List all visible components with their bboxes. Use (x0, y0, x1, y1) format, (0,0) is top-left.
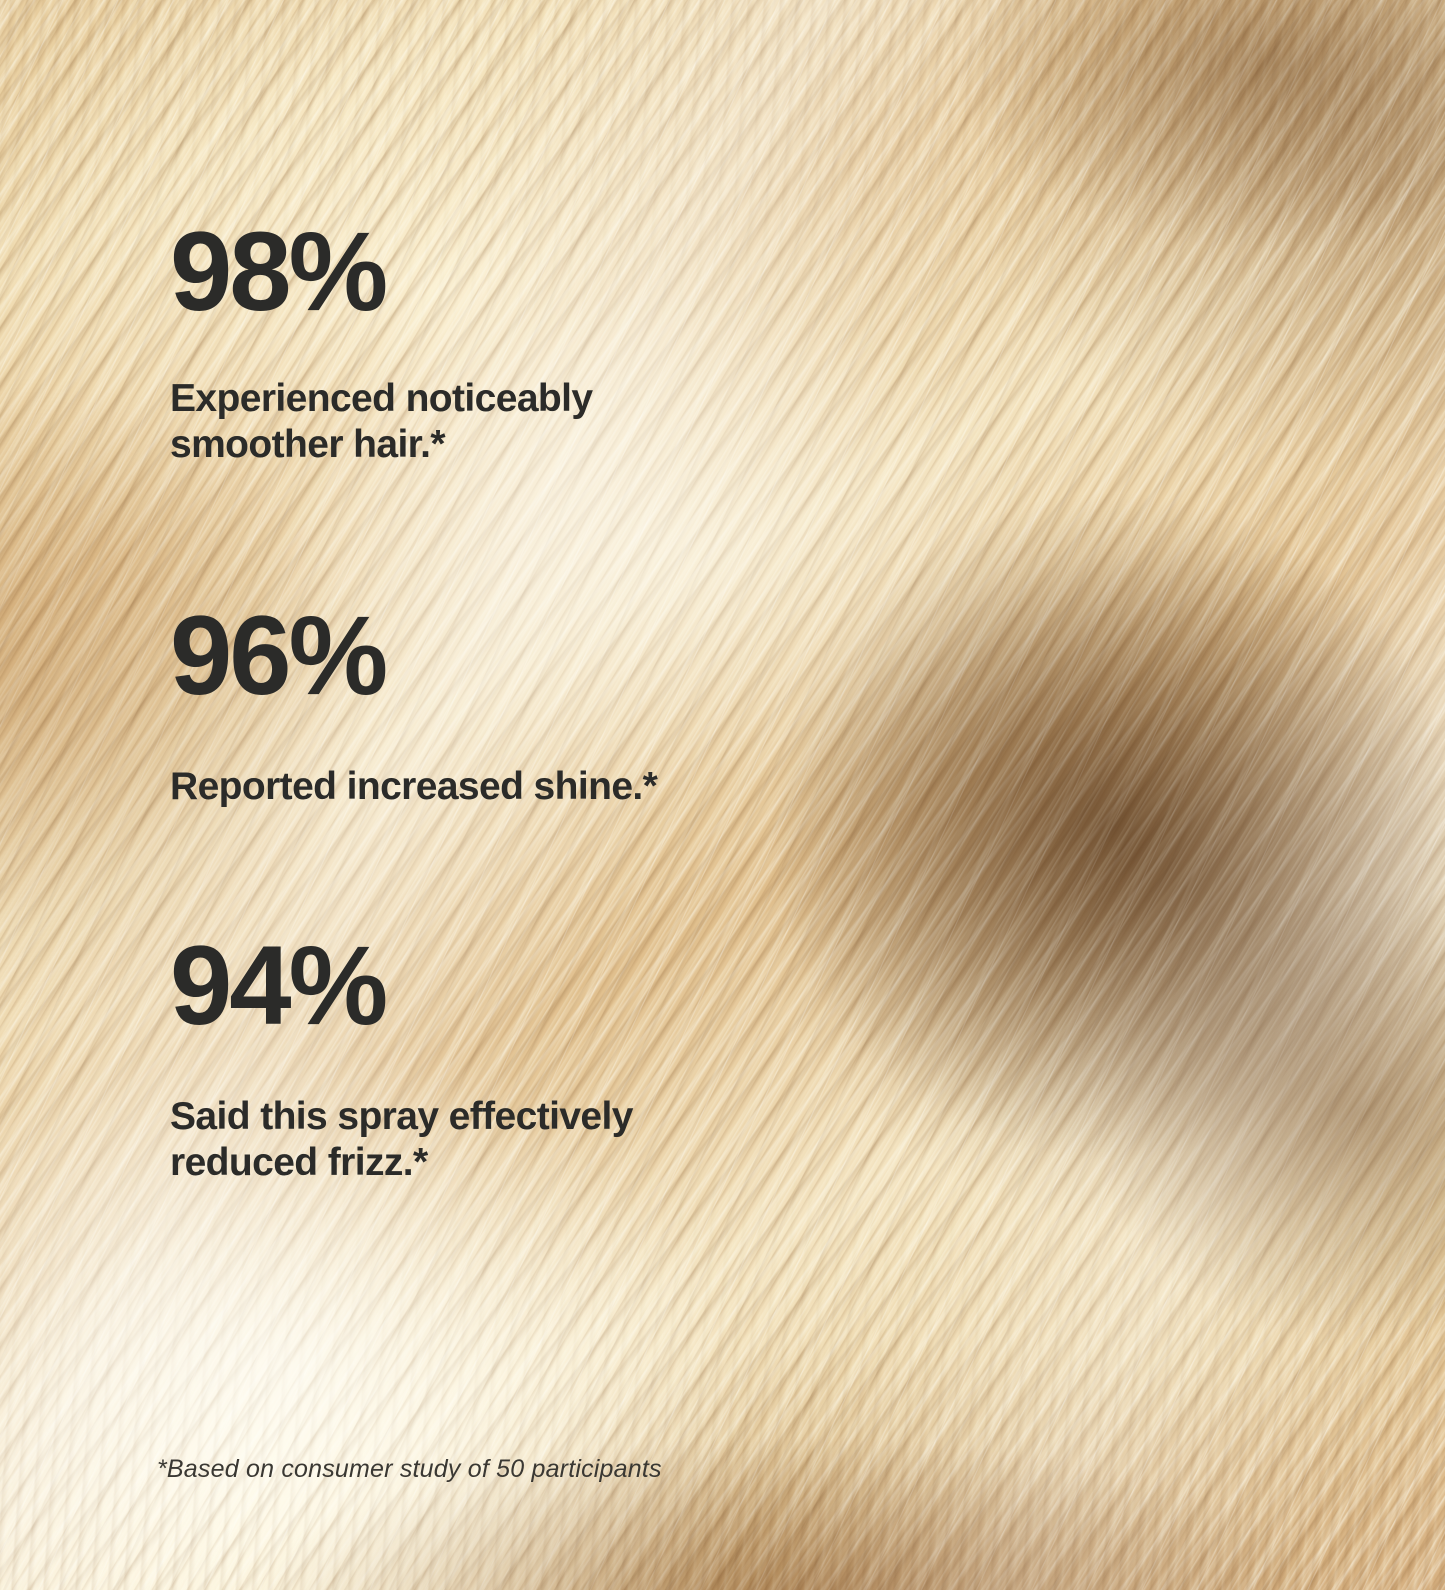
stat-block-reduced-frizz: 94% Said this spray effectively reduced … (170, 930, 633, 1186)
stat-value-94: 94% (170, 930, 633, 1042)
stat-value-96: 96% (170, 600, 657, 712)
study-footnote: *Based on consumer study of 50 participa… (157, 1455, 662, 1484)
stat-value-98: 98% (170, 216, 592, 328)
stat-caption-increased-shine: Reported increased shine.* (170, 764, 657, 810)
stat-poster: 98% Experienced noticeably smoother hair… (0, 0, 1445, 1590)
stat-caption-reduced-frizz: Said this spray effectively reduced friz… (170, 1094, 633, 1186)
stat-caption-smoother-hair: Experienced noticeably smoother hair.* (170, 376, 592, 468)
stat-block-increased-shine: 96% Reported increased shine.* (170, 600, 657, 810)
stat-content: 98% Experienced noticeably smoother hair… (0, 0, 1445, 1590)
stat-block-smoother-hair: 98% Experienced noticeably smoother hair… (170, 216, 592, 468)
